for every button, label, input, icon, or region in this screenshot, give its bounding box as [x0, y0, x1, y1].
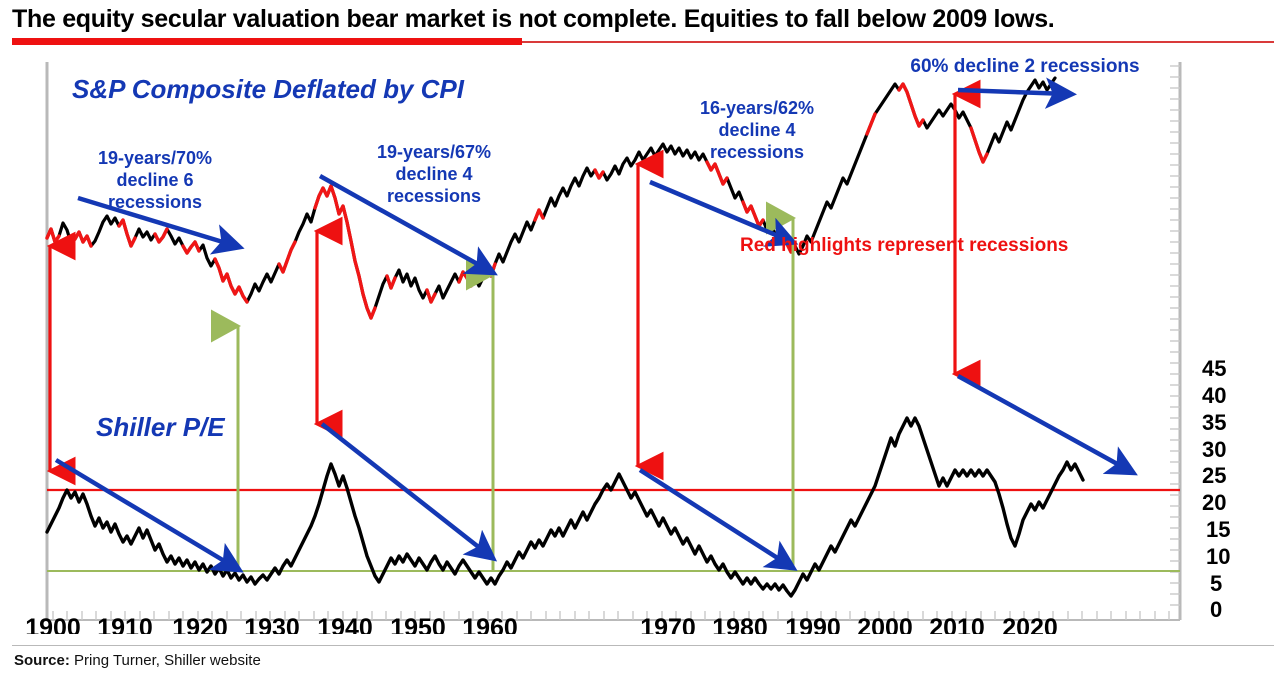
y-tick-label: 45	[1202, 356, 1226, 381]
annotation-line: 60% decline 2 recessions	[910, 56, 1139, 77]
x-tick-label: 1970	[640, 614, 696, 634]
y-tick-label: 20	[1202, 490, 1226, 515]
annotation-bear-1929: 19-years/67% decline 4 recessions	[377, 142, 491, 206]
secular-low-link-arrows	[238, 218, 793, 571]
y-tick-label: 5	[1210, 571, 1222, 596]
source-text: Pring Turner, Shiller website	[70, 652, 261, 669]
y-tick-label: 35	[1202, 410, 1226, 435]
x-tick-label: 2000	[857, 614, 913, 634]
upper-trend-1966-1982	[650, 182, 790, 241]
x-tick-label: 1920	[172, 614, 228, 634]
x-axis-labels: 1900 1910 1920 1930 1940 1950 1960 1970 …	[25, 614, 1058, 634]
x-tick-label: 1960	[462, 614, 518, 634]
annotation-line: decline 6	[116, 170, 193, 190]
annotation-line: 19-years/67%	[377, 142, 491, 162]
title-block: The equity secular valuation bear market…	[0, 0, 1284, 46]
shiller-pe-series	[47, 418, 1083, 596]
x-tick-label: 1980	[712, 614, 768, 634]
upper-series-label: S&P Composite Deflated by CPI	[72, 74, 465, 104]
upper-trend-2000-2020	[958, 90, 1068, 94]
lower-series-label: Shiller P/E	[96, 412, 225, 442]
page-title: The equity secular valuation bear market…	[12, 5, 1054, 34]
annotation-bear-1900: 19-years/70% decline 6 recessions	[98, 148, 212, 212]
annotation-line: decline 4	[395, 164, 472, 184]
x-tick-label: 1950	[390, 614, 446, 634]
y-axis-labels: 45 40 35 30 25 20 15 10 5 0	[1202, 356, 1230, 622]
x-tick-label: 2020	[1002, 614, 1058, 634]
x-tick-label: 1990	[785, 614, 841, 634]
annotation-line: decline 4	[718, 120, 795, 140]
chart-svg: S&P Composite Deflated by CPI Shiller P/…	[0, 46, 1284, 634]
y-tick-label: 0	[1210, 597, 1222, 622]
source-divider	[12, 645, 1274, 646]
x-tick-label: 1910	[97, 614, 153, 634]
annotation-bear-2000: 60% decline 2 recessions	[910, 56, 1139, 77]
x-tick-label: 2010	[929, 614, 985, 634]
x-tick-label: 1930	[244, 614, 300, 634]
recession-legend-label: Red highlights represent recessions	[740, 235, 1068, 256]
annotation-line: recessions	[710, 142, 804, 162]
chart-page: The equity secular valuation bear market…	[0, 0, 1284, 680]
annotation-line: 19-years/70%	[98, 148, 212, 168]
lower-trend-2000-2020	[958, 376, 1130, 471]
x-tick-label: 1900	[25, 614, 81, 634]
annotation-line: recessions	[387, 186, 481, 206]
y-tick-label: 40	[1202, 383, 1226, 408]
x-tick-label: 1940	[317, 614, 373, 634]
chart-area: S&P Composite Deflated by CPI Shiller P/…	[0, 46, 1284, 634]
title-underline-thick	[12, 38, 522, 45]
annotation-line: 16-years/62%	[700, 98, 814, 118]
annotation-line: recessions	[108, 192, 202, 212]
lower-trend-1901-1920	[56, 460, 236, 568]
y-tick-label: 30	[1202, 437, 1226, 462]
y-tick-label: 25	[1202, 463, 1226, 488]
source-note: Source: Pring Turner, Shiller website	[14, 652, 261, 669]
y-tick-label: 15	[1206, 517, 1230, 542]
annotation-bear-1966: 16-years/62% decline 4 recessions	[700, 98, 814, 162]
y-tick-label: 10	[1206, 544, 1230, 569]
source-prefix: Source:	[14, 652, 70, 669]
